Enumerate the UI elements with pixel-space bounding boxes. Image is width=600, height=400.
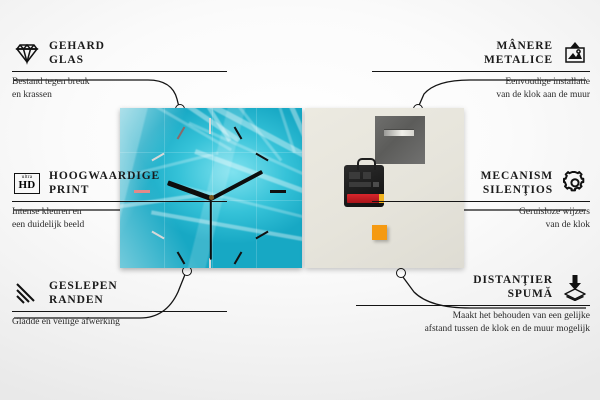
feature-title: GESLEPENRANDEN (49, 279, 118, 307)
feature-description: Geruisloze wijzersvan de klok (372, 206, 590, 231)
feature-title: MECANISMSILENŢIOS (481, 169, 553, 197)
feature-title: MÂNEREMETALICE (484, 39, 553, 67)
feature-hoogwaardige-print: ultra HD HOOGWAARDIGEPRINT Intense kleur… (12, 168, 227, 231)
feature-title: GEHARDGLAS (49, 39, 105, 67)
hanger-slot (384, 129, 414, 136)
feature-description: Eenvoudige installatievan de klok aan de… (372, 76, 590, 101)
divider (372, 71, 590, 72)
metal-hanger (375, 116, 425, 164)
clock-tick-12 (209, 118, 211, 134)
feature-manere-metalice: MÂNEREMETALICE Eenvoudige installatievan… (372, 38, 590, 101)
divider (12, 311, 227, 312)
divider (372, 201, 590, 202)
ultra-hd-icon: ultra HD (12, 168, 42, 198)
divider (12, 201, 227, 202)
clock-tick-3 (270, 190, 286, 193)
infographic-canvas: GEHARDGLAS Bestand tegen breuken krassen… (0, 0, 600, 400)
divider (12, 71, 227, 72)
hanging-picture-icon (560, 38, 590, 68)
feature-description: Gladde en veilige afwerking (12, 316, 227, 329)
feature-description: Maakt het behouden van een gelijkeafstan… (356, 310, 590, 335)
divider (356, 305, 590, 306)
feature-description: Intense kleuren eneen duidelijk beeld (12, 206, 227, 231)
feature-geslepen-randen: GESLEPENRANDEN Gladde en veilige afwerki… (12, 278, 227, 329)
foam-spacer-icon (560, 272, 590, 302)
diamond-icon (12, 38, 42, 68)
feature-title: DISTANŢIERSPUMĂ (473, 273, 553, 301)
beveled-edges-icon (12, 278, 42, 308)
feature-distantier-spuma: DISTANŢIERSPUMĂ Maakt het behouden van e… (356, 272, 590, 335)
feature-title: HOOGWAARDIGEPRINT (49, 169, 160, 197)
feature-mecanism-silentios: MECANISMSILENŢIOS Geruisloze wijzersvan … (372, 168, 590, 231)
feature-description: Bestand tegen breuken krassen (12, 76, 227, 101)
feature-gehard-glas: GEHARDGLAS Bestand tegen breuken krassen (12, 38, 227, 101)
gear-icon (560, 168, 590, 198)
